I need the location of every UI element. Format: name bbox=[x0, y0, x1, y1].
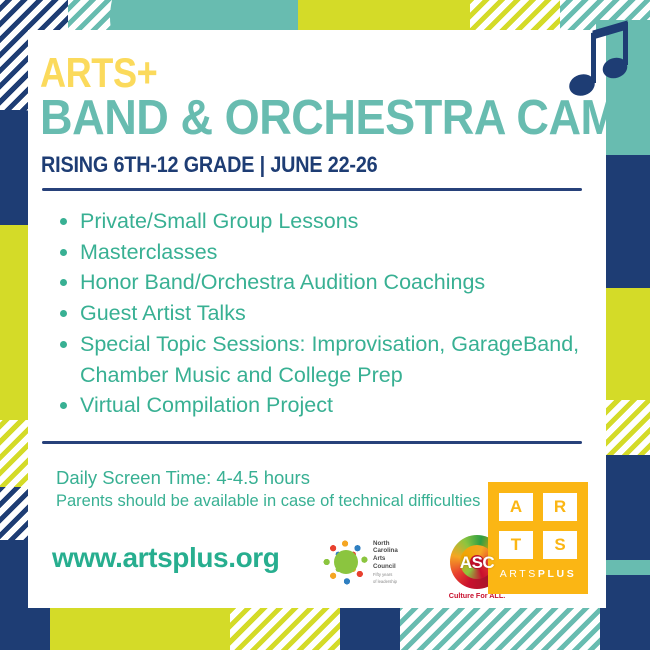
poster-content: ARTS+ BAND & ORCHESTRA CAMP RISING 6TH-1… bbox=[28, 30, 606, 608]
poster-canvas: ARTS+ BAND & ORCHESTRA CAMP RISING 6TH-1… bbox=[0, 0, 650, 650]
asc-letters: ASC bbox=[450, 553, 504, 573]
list-item: Guest Artist Talks bbox=[56, 298, 601, 329]
nc-arts-council-logo: North Carolina Arts Council Fifty years … bbox=[323, 533, 431, 591]
features-list: Private/Small Group Lessons Masterclasse… bbox=[56, 206, 601, 421]
nc-arts-council-text: North Carolina Arts Council Fifty years … bbox=[373, 540, 398, 584]
page-title: BAND & ORCHESTRA CAMP bbox=[40, 94, 647, 143]
top-lime-bar bbox=[298, 0, 478, 32]
ncac-line2: Carolina bbox=[373, 547, 398, 555]
parents-note: Parents should be available in case of t… bbox=[56, 492, 480, 511]
artsplus-cell-s: S bbox=[543, 531, 577, 559]
artsplus-wordmark-bold: PLUS bbox=[538, 568, 576, 580]
ncac-sub1: Fifty years bbox=[373, 572, 398, 577]
ncac-sub2: of leadership bbox=[373, 579, 398, 584]
artsplus-cell-t: T bbox=[499, 531, 533, 559]
nc-arts-council-mark-icon bbox=[323, 539, 369, 585]
artsplus-wordmark-light: ARTS bbox=[500, 568, 538, 580]
list-item: Honor Band/Orchestra Audition Coachings bbox=[56, 267, 601, 298]
ncac-line4: Council bbox=[373, 563, 398, 571]
divider-bottom bbox=[42, 441, 582, 444]
list-item: Masterclasses bbox=[56, 237, 601, 268]
list-item: Special Topic Sessions: Improvisation, G… bbox=[56, 329, 601, 390]
divider-top bbox=[42, 188, 582, 191]
artsplus-cell-r: R bbox=[543, 493, 577, 521]
page-subtitle: RISING 6TH-12 GRADE | JUNE 22-26 bbox=[41, 152, 377, 178]
music-note-icon bbox=[565, 15, 635, 110]
list-item: Private/Small Group Lessons bbox=[56, 206, 601, 237]
artsplus-letter-grid: A R T S bbox=[499, 493, 577, 559]
ncac-line3: Arts bbox=[373, 555, 398, 563]
website-link[interactable]: www.artsplus.org bbox=[52, 542, 280, 574]
list-item: Virtual Compilation Project bbox=[56, 390, 601, 421]
artsplus-logo: A R T S ARTSPLUS bbox=[488, 482, 588, 594]
artsplus-cell-a: A bbox=[499, 493, 533, 521]
brand-arts-plus: ARTS+ bbox=[40, 52, 157, 94]
ncac-line1: North bbox=[373, 540, 398, 548]
screen-time-note: Daily Screen Time: 4-4.5 hours bbox=[56, 467, 310, 489]
